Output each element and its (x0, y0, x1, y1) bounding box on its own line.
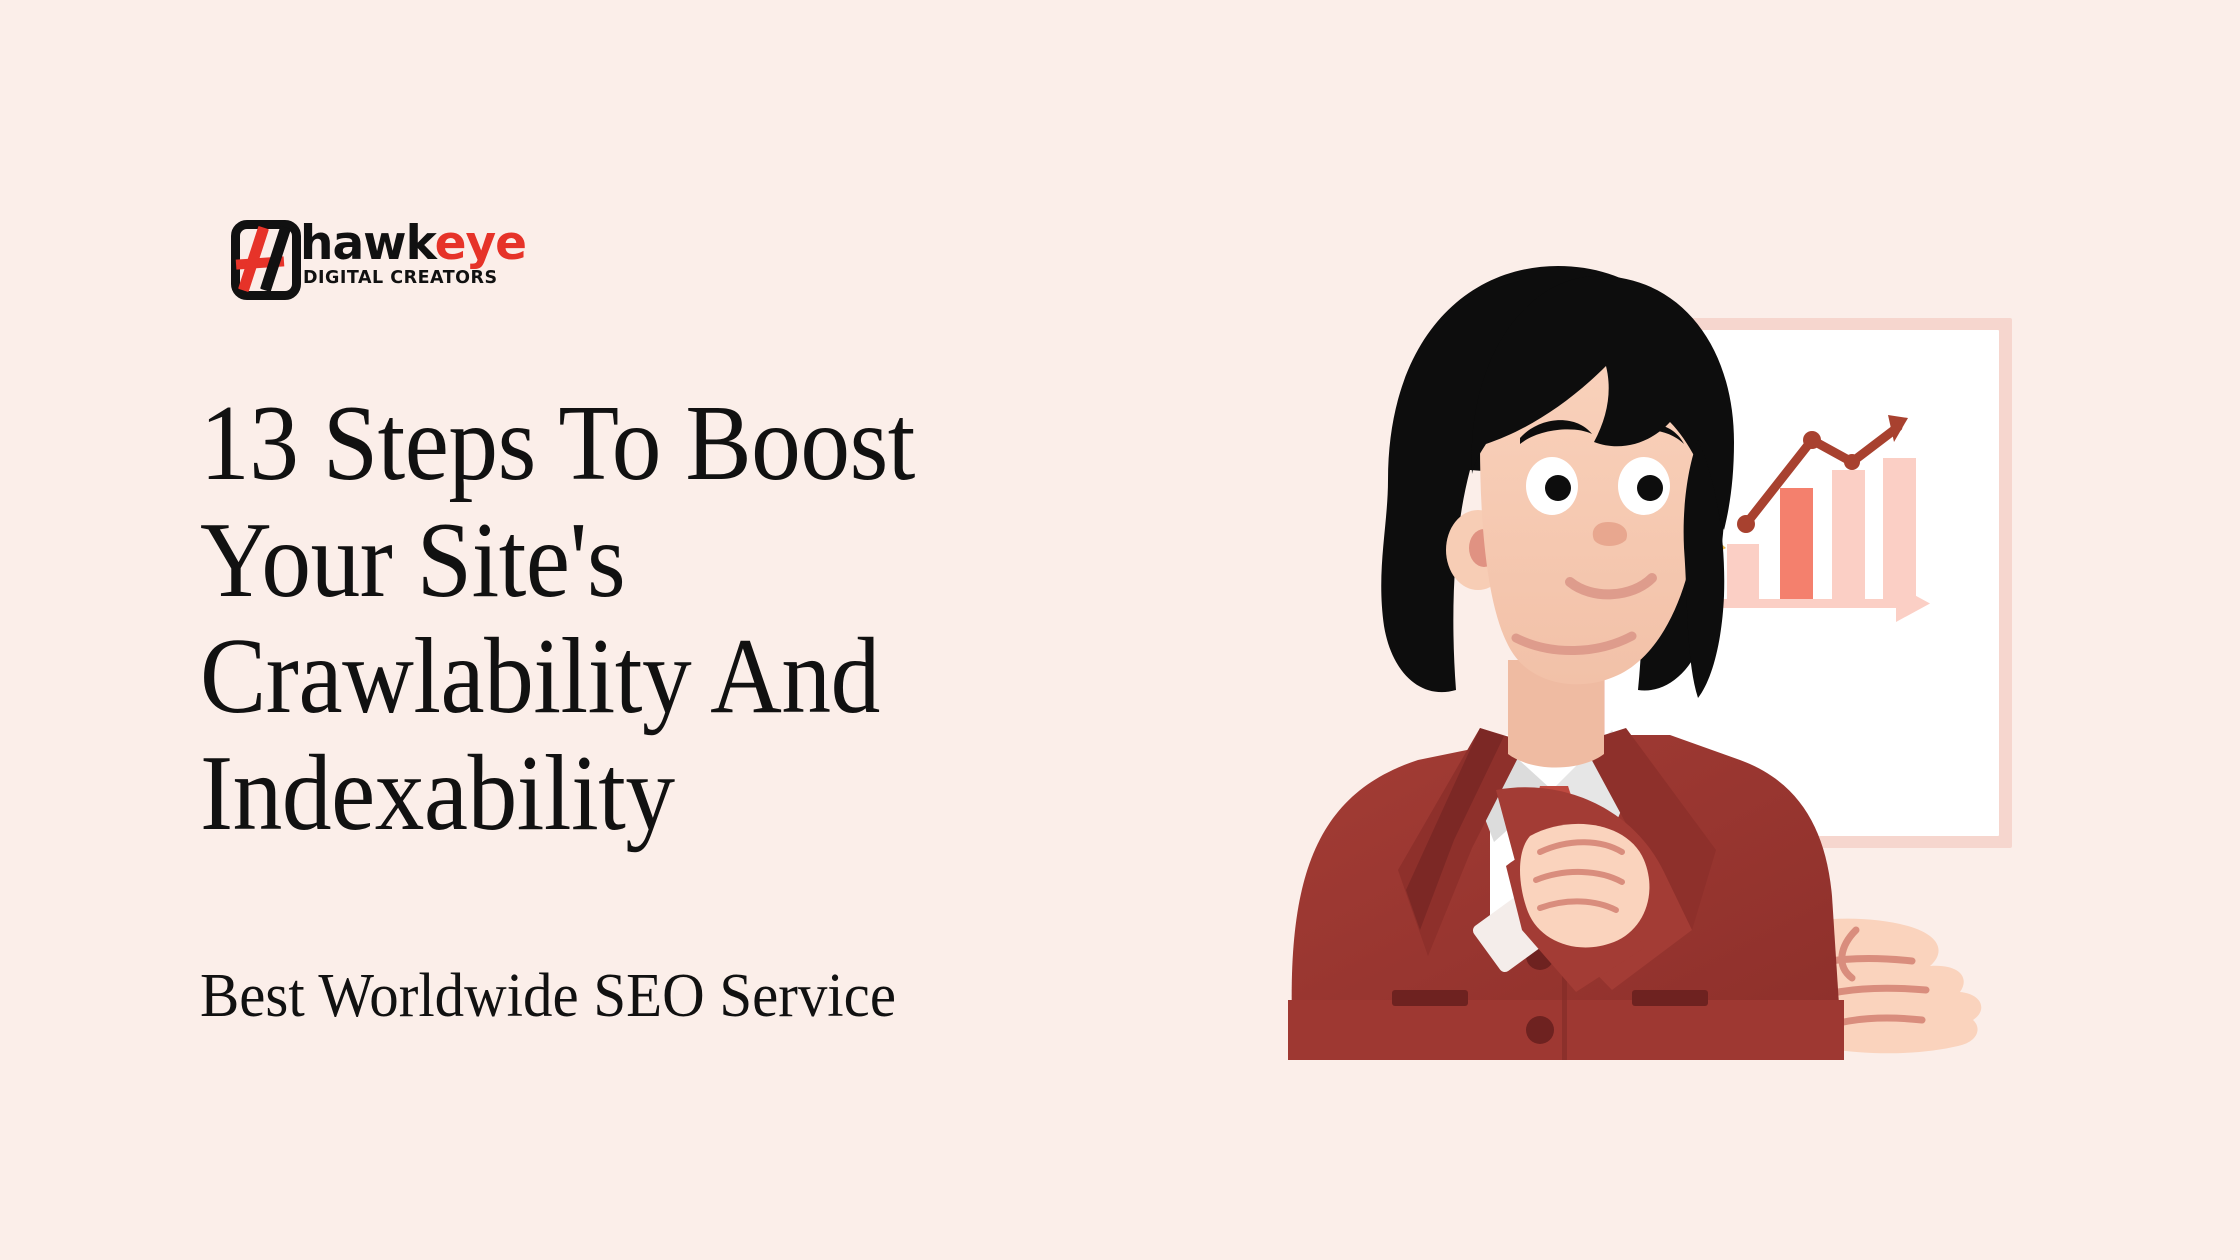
headline-line-3: Crawlability And (200, 619, 1065, 736)
chart-bar-2 (1780, 488, 1813, 599)
brand-logo[interactable]: hawkeye DIGITAL CREATORS (228, 218, 526, 302)
poster-canvas: hawkeye DIGITAL CREATORS 13 Steps To Boo… (0, 0, 2240, 1260)
blazer-button-2 (1526, 1016, 1554, 1044)
headline-line-1: 13 Steps To Boost (200, 386, 1065, 503)
businesswoman-presenting-chart-illustration (1240, 230, 2070, 1060)
page-title: 13 Steps To Boost Your Site's Crawlabili… (200, 386, 1065, 853)
logo-word-hawk: hawk (300, 216, 435, 271)
pupil-right (1637, 475, 1663, 501)
logo-tagline: DIGITAL CREATORS (303, 268, 526, 288)
chart-bar-1 (1727, 544, 1759, 599)
hawkeye-logo-mark-icon (228, 218, 306, 302)
headline-line-2: Your Site's (200, 503, 1065, 620)
headline-line-4: Indexability (200, 736, 1065, 853)
chart-bar-3 (1832, 470, 1865, 599)
logo-word: hawkeye (300, 222, 526, 267)
pupil-left (1545, 475, 1571, 501)
chart-bar-4 (1883, 458, 1916, 599)
logo-wordmark: hawkeye DIGITAL CREATORS (300, 218, 526, 288)
logo-word-eye: eye (435, 216, 526, 271)
blazer-pocket-left (1392, 990, 1468, 1006)
blazer-pocket-right (1632, 990, 1708, 1006)
pointer-hand (1520, 824, 1649, 948)
page-subtitle: Best Worldwide SEO Service (200, 962, 896, 1030)
